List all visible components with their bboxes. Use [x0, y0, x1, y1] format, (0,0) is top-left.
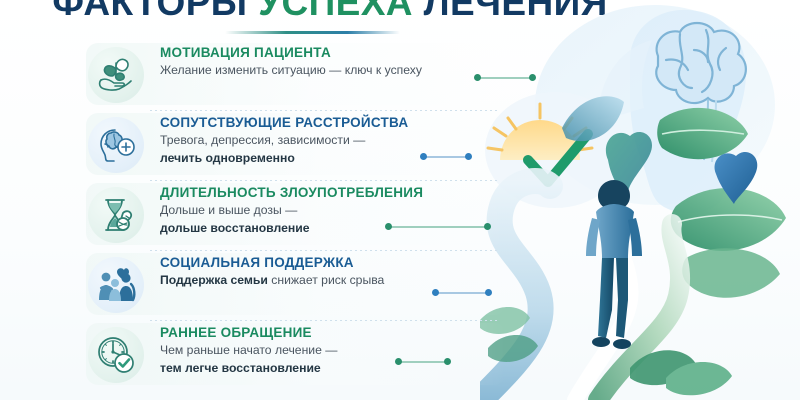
- row-text: РАННЕЕ ОБРАЩЕНИЕ Чем раньше начато лечен…: [160, 324, 505, 376]
- family-heart-icon: [88, 257, 144, 313]
- connector-line: [395, 358, 451, 365]
- item-subtext: Поддержка семьи снижает риск срыва: [160, 273, 505, 289]
- item-subtext-bold: Поддержка семьи: [160, 273, 268, 287]
- head-brain-plus-icon: [88, 117, 144, 173]
- item-subtext-plain: снижает риск срыва: [268, 273, 384, 287]
- connector-line: [432, 289, 492, 296]
- row-text: МОТИВАЦИЯ ПАЦИЕНТА Желание изменить ситу…: [160, 44, 505, 79]
- item-subtext: Тревога, депрессия, зависимости —: [160, 133, 505, 149]
- item-subtext-line2: тем легче восстановление: [160, 361, 505, 377]
- item-subtext: Желание изменить ситуацию — ключ к успех…: [160, 63, 505, 79]
- connector-line: [474, 74, 536, 81]
- list-item[interactable]: СОПУТСТВУЮЩИЕ РАССТРОЙСТВА Тревога, депр…: [86, 110, 506, 180]
- factors-list: МОТИВАЦИЯ ПАЦИЕНТА Желание изменить ситу…: [86, 40, 506, 390]
- item-heading: ДЛИТЕЛЬНОСТЬ ЗЛОУПОТРЕБЛЕНИЯ: [160, 184, 505, 201]
- item-subtext: Дольше и выше дозы —: [160, 203, 505, 219]
- hourglass-pills-icon: [88, 187, 144, 243]
- clock-check-icon: [88, 327, 144, 383]
- item-heading: СОЦИАЛЬНАЯ ПОДДЕРЖКА: [160, 254, 505, 271]
- item-heading: СОПУТСТВУЮЩИЕ РАССТРОЙСТВА: [160, 114, 505, 131]
- connector-line: [420, 153, 472, 160]
- title-part-1: ФАКТОРЫ: [52, 0, 258, 23]
- list-item[interactable]: СОЦИАЛЬНАЯ ПОДДЕРЖКА Поддержка семьи сни…: [86, 250, 506, 320]
- leaf-icon-3: [682, 248, 780, 297]
- item-heading: МОТИВАЦИЯ ПАЦИЕНТА: [160, 44, 505, 61]
- list-item[interactable]: МОТИВАЦИЯ ПАЦИЕНТА Желание изменить ситу…: [86, 40, 506, 110]
- item-heading: РАННЕЕ ОБРАЩЕНИЕ: [160, 324, 505, 341]
- list-item[interactable]: ДЛИТЕЛЬНОСТЬ ЗЛОУПОТРЕБЛЕНИЯ Дольше и вы…: [86, 180, 506, 250]
- item-subtext: Чем раньше начато лечение —: [160, 343, 505, 359]
- illustration: [480, 0, 800, 400]
- title-part-2: УСПЕХА: [258, 0, 424, 23]
- connector-line: [385, 223, 491, 230]
- row-text: СОЦИАЛЬНАЯ ПОДДЕРЖКА Поддержка семьи сни…: [160, 254, 505, 289]
- infographic-page: ФАКТОРЫ УСПЕХА ЛЕЧЕНИЯ: [0, 0, 800, 400]
- list-item[interactable]: РАННЕЕ ОБРАЩЕНИЕ Чем раньше начато лечен…: [86, 320, 506, 390]
- leaf-icon-6: [630, 350, 732, 395]
- title-divider: [225, 31, 400, 34]
- hand-plant-heart-icon: [88, 47, 144, 103]
